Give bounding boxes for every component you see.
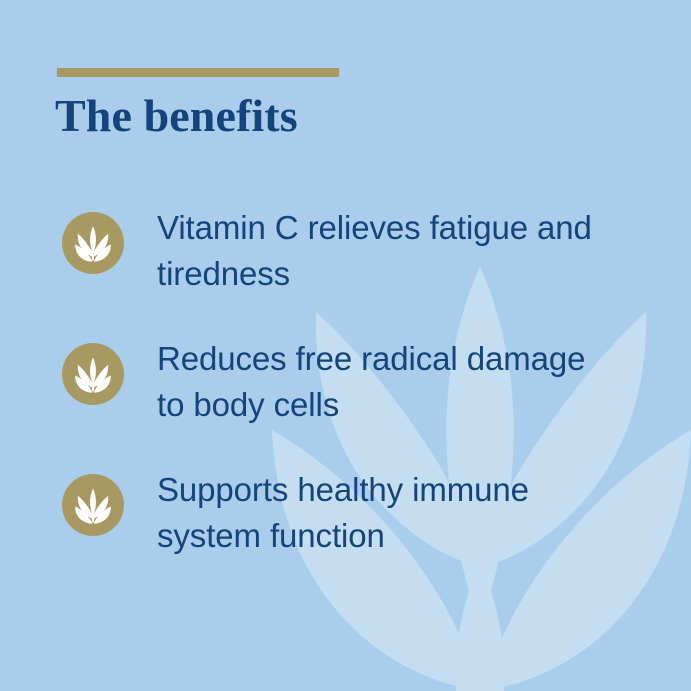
gold-accent-rule (57, 68, 339, 77)
leaf-sprig-icon (62, 474, 124, 536)
leaf-sprig-icon (62, 343, 124, 405)
list-item: Vitamin C relieves fatigue and tiredness (62, 205, 662, 297)
list-item-label: Vitamin C relieves fatigue and tiredness (157, 205, 607, 297)
list-item-label: Reduces free radical damage to body cell… (157, 336, 607, 428)
benefits-list: Vitamin C relieves fatigue and tiredness… (62, 205, 662, 559)
benefits-card: The benefits Vitamin C relieves fatigue … (0, 0, 691, 691)
list-item: Supports healthy immune system function (62, 467, 662, 559)
list-item-label: Supports healthy immune system function (157, 467, 607, 559)
list-item: Reduces free radical damage to body cell… (62, 336, 662, 428)
page-title: The benefits (55, 90, 298, 142)
leaf-sprig-icon (62, 212, 124, 274)
